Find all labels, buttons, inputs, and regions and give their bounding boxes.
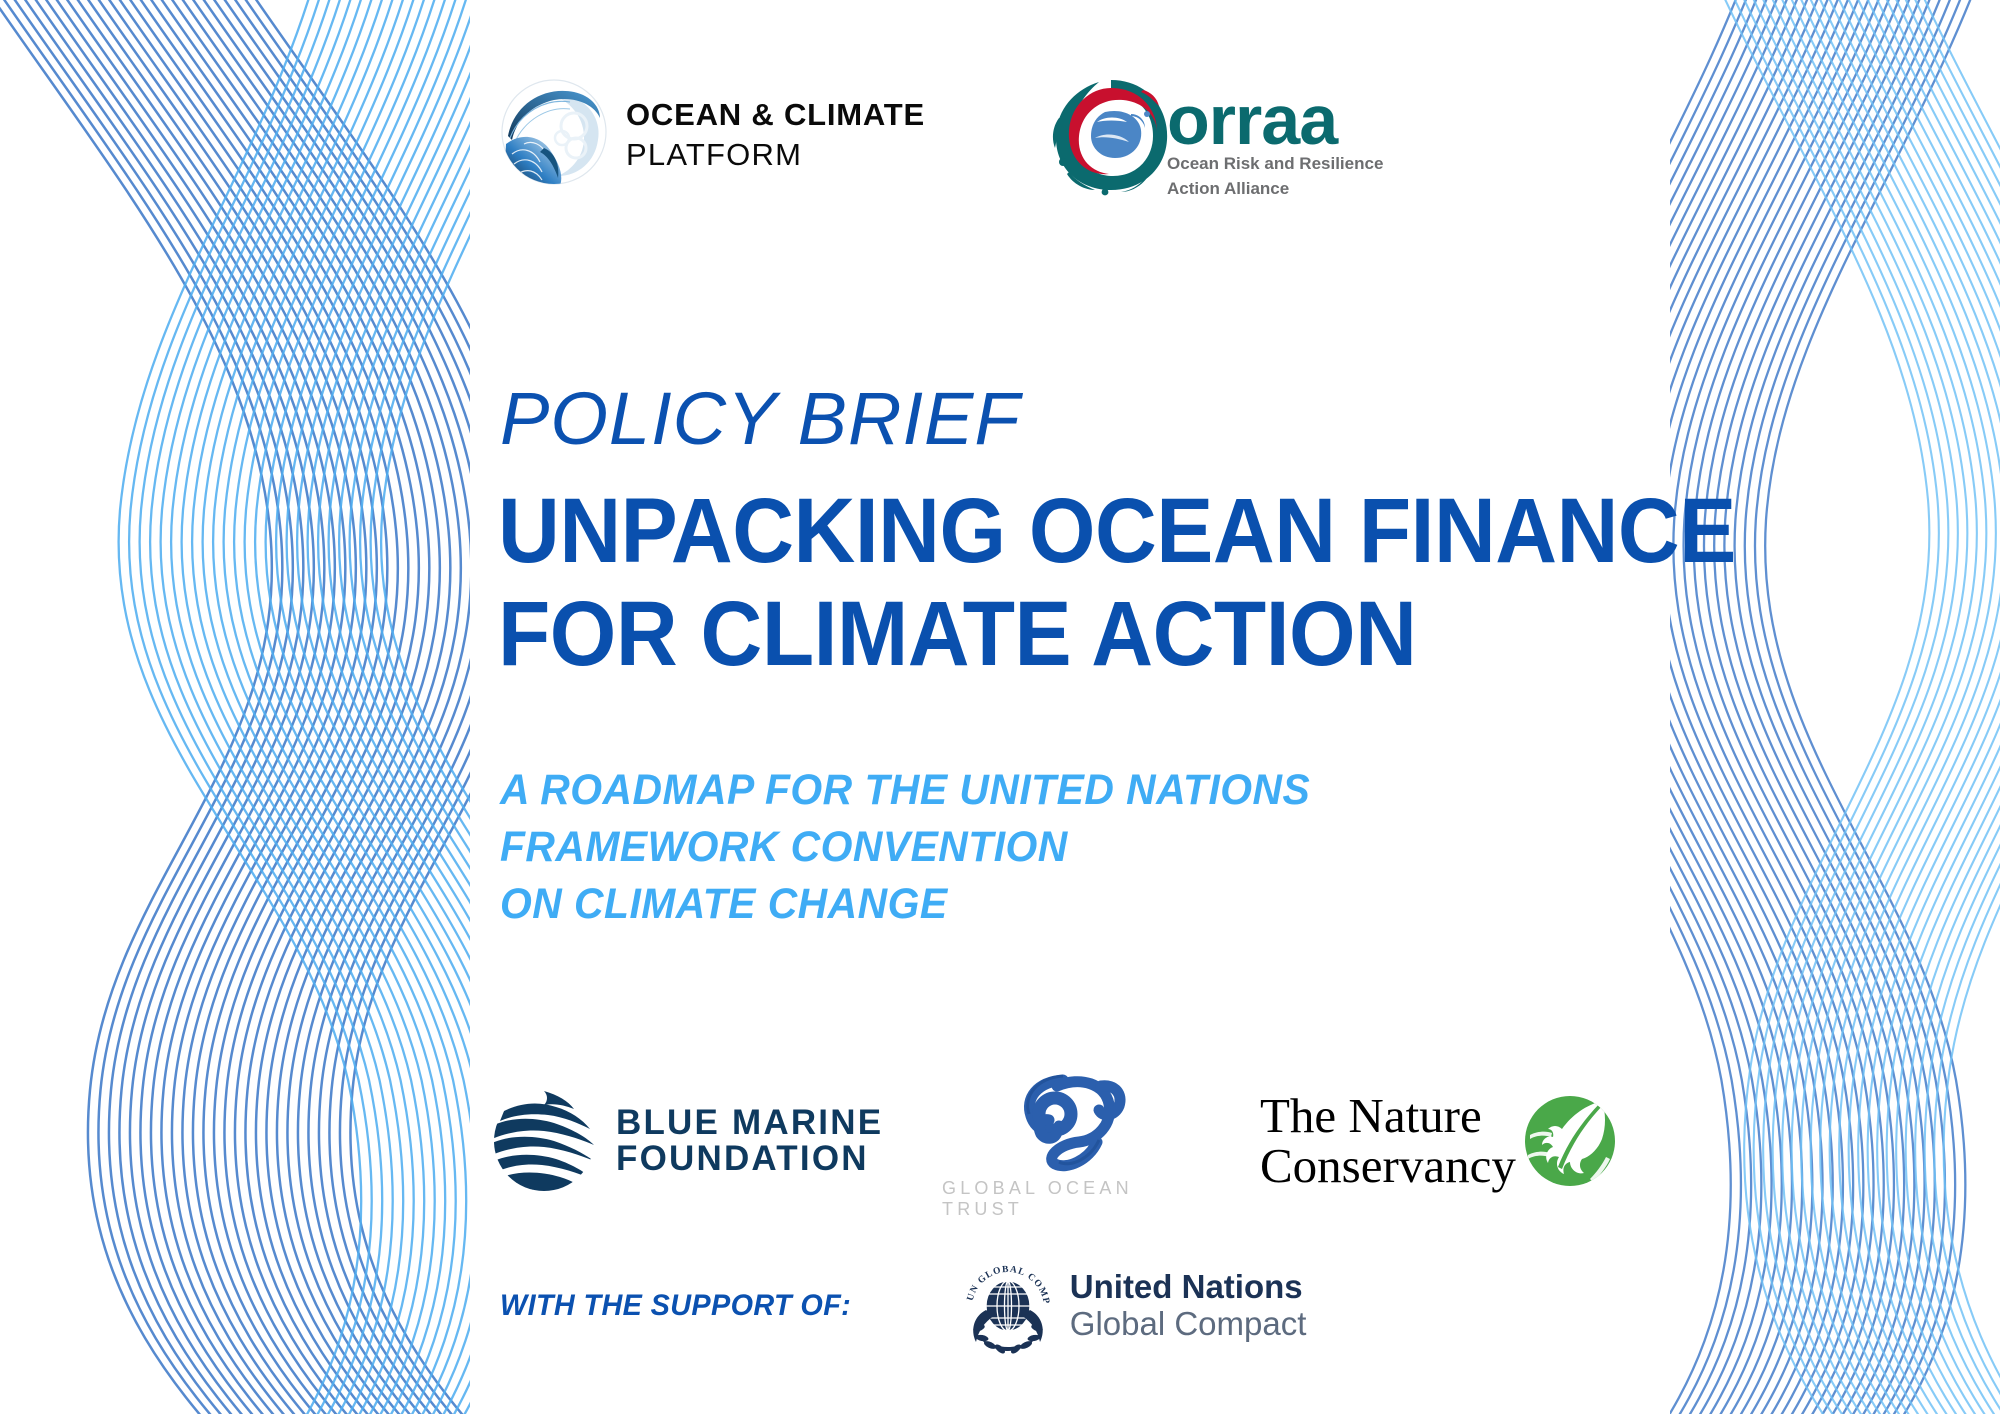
page-subtitle-line-2: FRAMEWORK CONVENTION	[500, 819, 1310, 876]
page-title: UNPACKING OCEAN FINANCE FOR CLIMATE ACTI…	[498, 480, 1819, 686]
blue-marine-wordmark: BLUE MARINE FOUNDATION	[616, 1105, 883, 1176]
ungc-line-1: United Nations	[1070, 1269, 1307, 1306]
orraa-logo: orraa Ocean Risk and Resilience Action A…	[1047, 78, 1383, 199]
orraa-tagline-line-1: Ocean Risk and Resilience	[1167, 154, 1383, 174]
ocp-line-2: PLATFORM	[626, 139, 925, 170]
ocean-climate-platform-wordmark: OCEAN & CLIMATE PLATFORM	[626, 95, 925, 170]
page-kicker: POLICY BRIEF	[500, 376, 1021, 461]
ocean-wave-circle-icon	[500, 78, 608, 186]
blue-marine-fish-waves-icon	[492, 1089, 596, 1193]
partner-logo-row: BLUE MARINE FOUNDATION GLOBAL OCEAN	[492, 1062, 1616, 1220]
global-ocean-trust-logo: GLOBAL OCEAN TRUST	[942, 1062, 1202, 1220]
orraa-wordmark-block: orraa Ocean Risk and Resilience Action A…	[1167, 78, 1383, 199]
tnc-wordmark: The Nature Conservancy	[1260, 1093, 1516, 1189]
support-label: WITH THE SUPPORT OF:	[500, 1289, 851, 1323]
right-wave-decoration	[1670, 0, 2000, 1414]
ocp-line-1: OCEAN & CLIMATE	[626, 99, 925, 130]
page-subtitle-line-3: ON CLIMATE CHANGE	[500, 876, 1310, 933]
left-wave-decoration	[0, 0, 470, 1414]
un-globe-laurel-icon: UN GLOBAL COMPACT	[960, 1258, 1056, 1354]
the-nature-conservancy-logo: The Nature Conservancy	[1260, 1093, 1616, 1189]
orraa-brush-circle-icon	[1047, 70, 1175, 198]
ocean-climate-platform-logo: OCEAN & CLIMATE PLATFORM	[500, 78, 925, 186]
ungc-line-2: Global Compact	[1070, 1306, 1307, 1343]
page-title-line-1: UNPACKING OCEAN FINANCE	[498, 480, 1819, 583]
policy-brief-cover: OCEAN & CLIMATE PLATFORM	[0, 0, 2000, 1414]
bmf-line-1: BLUE MARINE	[616, 1105, 883, 1141]
page-subtitle-line-1: A ROADMAP FOR THE UNITED NATIONS	[500, 762, 1310, 819]
blue-marine-foundation-logo: BLUE MARINE FOUNDATION	[492, 1089, 892, 1193]
un-global-compact-logo: UN GLOBAL COMPACT	[960, 1258, 1307, 1354]
tnc-line-1: The Nature	[1260, 1093, 1516, 1140]
header-logo-row: OCEAN & CLIMATE PLATFORM	[500, 78, 1383, 199]
page-subtitle: A ROADMAP FOR THE UNITED NATIONS FRAMEWO…	[500, 762, 1310, 932]
support-row: WITH THE SUPPORT OF: UN GLOBAL COMPACT	[500, 1258, 1306, 1354]
nature-conservancy-oak-leaf-globe-icon	[1524, 1095, 1616, 1187]
orraa-tagline-line-2: Action Alliance	[1167, 179, 1383, 199]
global-ocean-trust-knot-icon	[1011, 1062, 1133, 1172]
orraa-wordmark: orraa	[1167, 92, 1383, 149]
tnc-line-2: Conservancy	[1260, 1143, 1516, 1190]
bmf-line-2: FOUNDATION	[616, 1141, 883, 1177]
global-ocean-trust-label: GLOBAL OCEAN TRUST	[942, 1178, 1202, 1220]
page-title-line-2: FOR CLIMATE ACTION	[498, 583, 1819, 686]
ungc-wordmark: United Nations Global Compact	[1070, 1269, 1307, 1343]
